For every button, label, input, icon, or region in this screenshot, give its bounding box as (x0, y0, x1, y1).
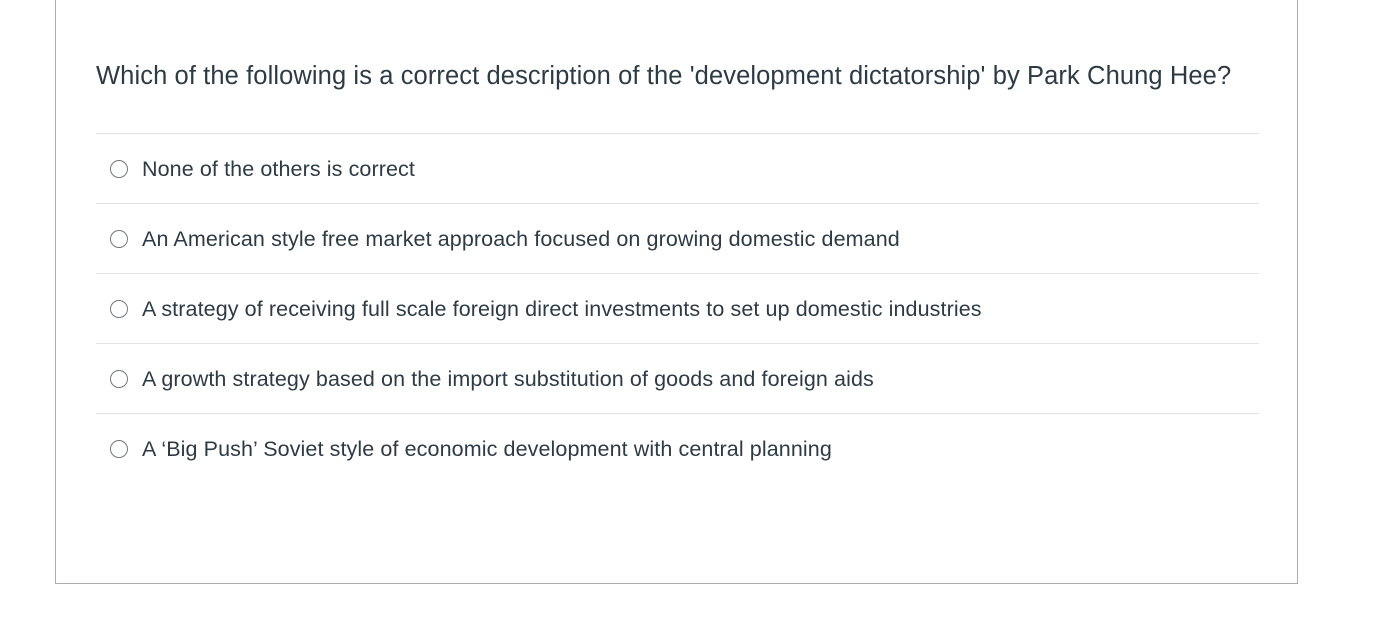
quiz-question-card: Which of the following is a correct desc… (55, 0, 1298, 584)
radio-unchecked-icon[interactable] (110, 160, 128, 178)
answer-option-4-label: A growth strategy based on the import su… (142, 365, 874, 393)
answer-option-5-label: A ‘Big Push’ Soviet style of economic de… (142, 435, 832, 463)
answer-option-2-label: An American style free market approach f… (142, 225, 900, 253)
answer-option-3-label: A strategy of receiving full scale forei… (142, 295, 982, 323)
answer-option-4[interactable]: A growth strategy based on the import su… (96, 344, 1259, 414)
radio-unchecked-icon[interactable] (110, 230, 128, 248)
question-text: Which of the following is a correct desc… (96, 0, 1257, 101)
page-root: Which of the following is a correct desc… (0, 0, 1377, 626)
radio-unchecked-icon[interactable] (110, 440, 128, 458)
answer-option-1-label: None of the others is correct (142, 155, 415, 183)
answer-option-3[interactable]: A strategy of receiving full scale forei… (96, 274, 1259, 344)
answer-option-1[interactable]: None of the others is correct (96, 134, 1259, 204)
question-card-body: Which of the following is a correct desc… (56, 0, 1297, 583)
answer-option-2[interactable]: An American style free market approach f… (96, 204, 1259, 274)
radio-unchecked-icon[interactable] (110, 300, 128, 318)
radio-unchecked-icon[interactable] (110, 370, 128, 388)
answer-options-list: None of the others is correct An America… (96, 133, 1259, 484)
answer-option-5[interactable]: A ‘Big Push’ Soviet style of economic de… (96, 414, 1259, 484)
